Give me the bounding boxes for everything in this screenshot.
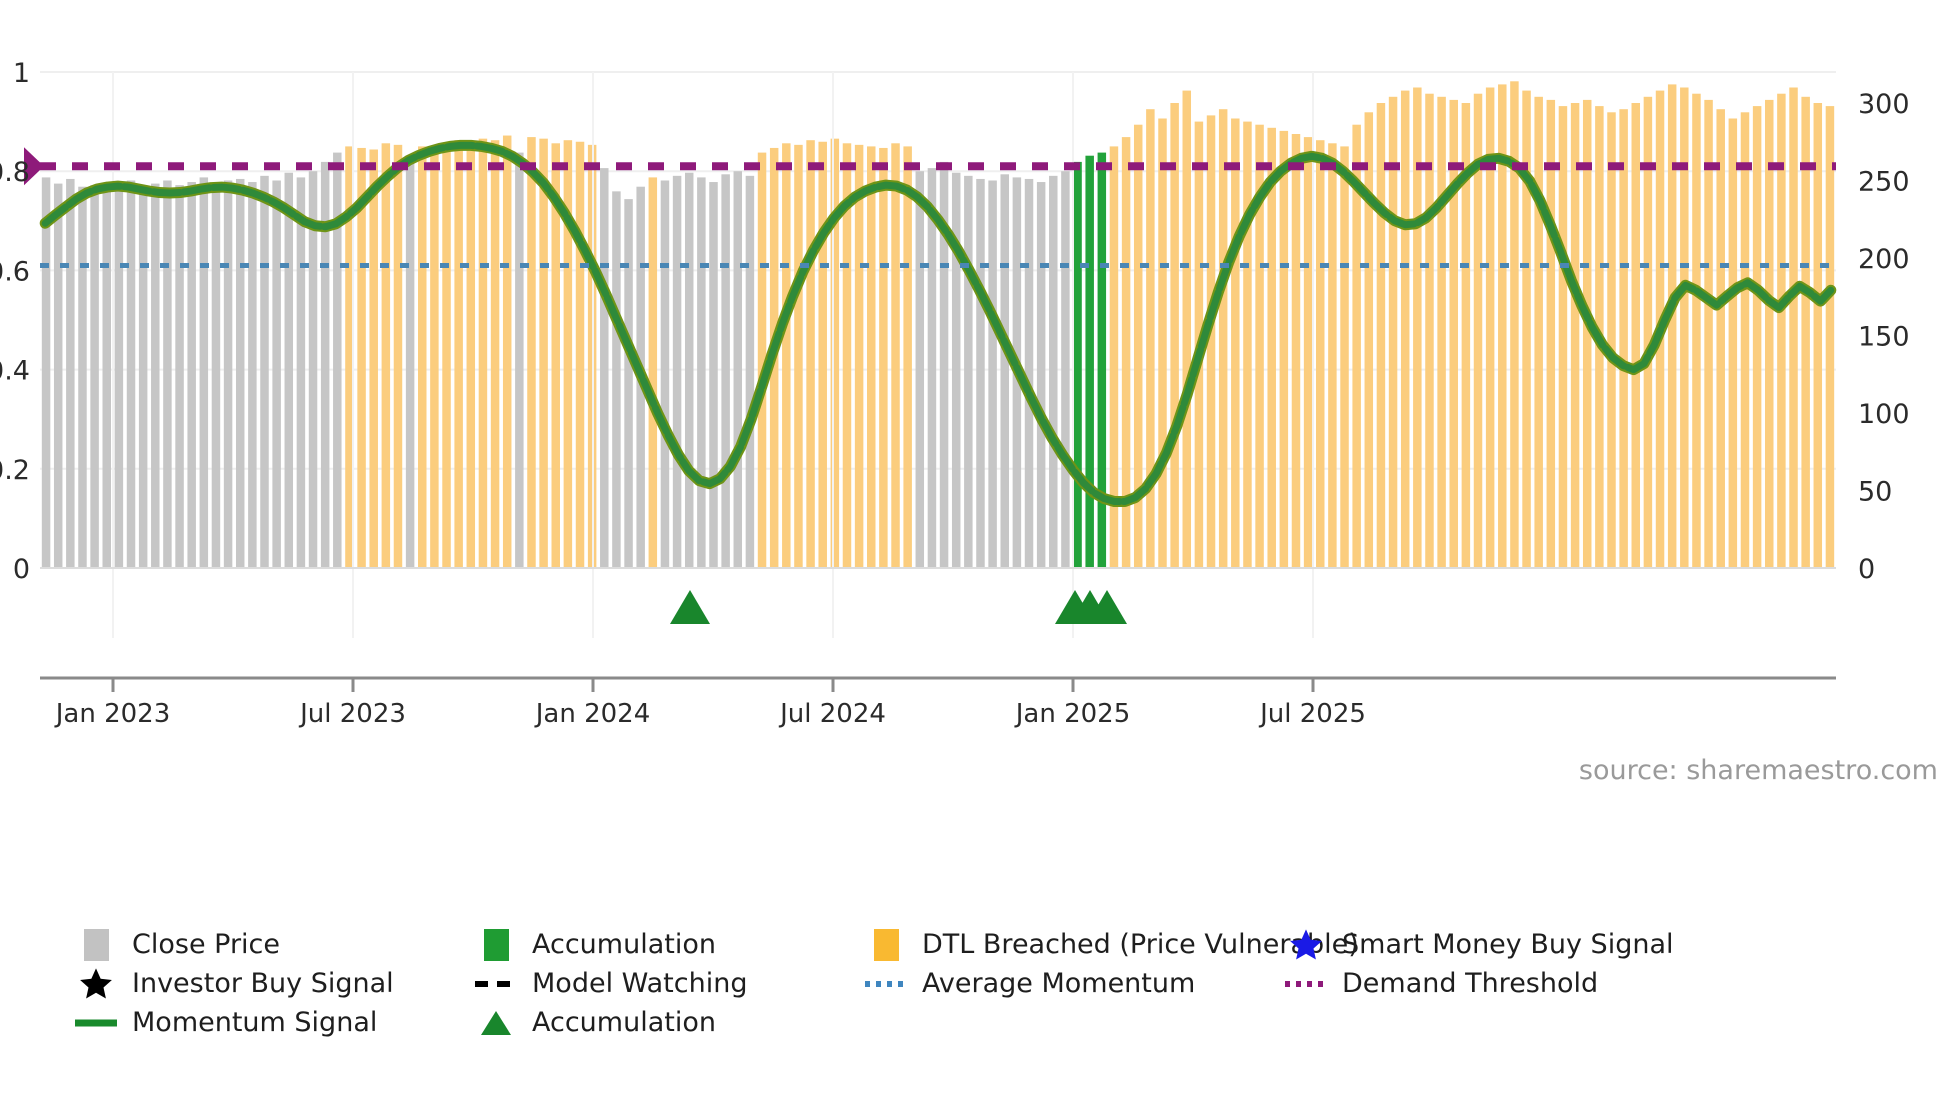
bar-dtl[interactable] — [1692, 94, 1700, 568]
bar-dtl[interactable] — [1377, 103, 1385, 568]
bar-dtl[interactable] — [1183, 91, 1191, 568]
dashed-line-icon — [474, 977, 518, 991]
y-axis-right-label: 200 — [1858, 244, 1910, 275]
bar-close[interactable] — [260, 176, 268, 568]
bar-dtl[interactable] — [394, 145, 402, 568]
bar-dtl[interactable] — [369, 150, 377, 569]
bar-close[interactable] — [709, 182, 717, 568]
bar-dtl[interactable] — [1753, 106, 1761, 568]
bar-dtl[interactable] — [1668, 84, 1676, 568]
bar-close[interactable] — [54, 184, 62, 568]
bar-dtl[interactable] — [1729, 119, 1737, 569]
bar-dtl[interactable] — [1304, 137, 1312, 568]
bar-dtl[interactable] — [649, 177, 657, 568]
y-axis-left-label: 0.6 — [0, 256, 30, 287]
y-axis-right-label: 250 — [1858, 167, 1910, 198]
bar-close[interactable] — [916, 171, 924, 568]
bar-close[interactable] — [248, 182, 256, 568]
bar-dtl[interactable] — [1219, 109, 1227, 568]
y-axis-left-label: 0.4 — [0, 356, 30, 387]
legend-dtl-breached[interactable]: DTL Breached (Price Vulnerable) — [864, 925, 1284, 964]
bar-dtl[interactable] — [1680, 88, 1688, 569]
bar-dtl[interactable] — [1328, 143, 1336, 568]
bar-dtl[interactable] — [1826, 106, 1834, 568]
bar-close[interactable] — [66, 179, 74, 568]
accumulation-triangle-marker[interactable] — [670, 590, 710, 624]
legend-item-label: Model Watching — [532, 968, 747, 999]
y-axis-right-label: 300 — [1858, 89, 1910, 120]
legend-accumulation-marker[interactable]: Accumulation — [474, 1003, 864, 1042]
bar-close[interactable] — [115, 182, 123, 568]
chart-legend: Close PriceAccumulationDTL Breached (Pri… — [74, 925, 1944, 1042]
bar-dtl[interactable] — [855, 145, 863, 568]
dotted-line-icon — [1284, 977, 1328, 991]
bar-dtl[interactable] — [1619, 109, 1627, 568]
bar-dtl[interactable] — [1632, 103, 1640, 568]
bar-close[interactable] — [964, 176, 972, 568]
bar-dtl[interactable] — [1559, 106, 1567, 568]
bar-close[interactable] — [236, 179, 244, 568]
legend-item-label: Smart Money Buy Signal — [1342, 929, 1674, 960]
bar-close[interactable] — [721, 174, 729, 568]
y-axis-right-label: 0 — [1858, 554, 1875, 585]
bar-close[interactable] — [600, 168, 608, 568]
bar-dtl[interactable] — [1437, 97, 1445, 568]
bar-dtl[interactable] — [1510, 81, 1518, 568]
accumulation-markers — [670, 590, 1127, 624]
legend-demand-threshold[interactable]: Demand Threshold — [1284, 964, 1684, 1003]
bar-accum[interactable] — [1085, 156, 1093, 568]
bar-series — [42, 81, 1834, 568]
bar-dtl[interactable] — [1158, 119, 1166, 569]
bar-close[interactable] — [1025, 179, 1033, 568]
bar-dtl[interactable] — [454, 140, 462, 568]
square-icon — [84, 929, 109, 961]
bar-close[interactable] — [285, 173, 293, 568]
bar-dtl[interactable] — [1340, 146, 1348, 568]
bar-dtl[interactable] — [1146, 109, 1154, 568]
bar-close[interactable] — [297, 177, 305, 568]
bar-dtl[interactable] — [1280, 131, 1288, 568]
bar-dtl[interactable] — [503, 136, 511, 568]
bar-dtl[interactable] — [1267, 128, 1275, 568]
legend-item-label: Close Price — [132, 929, 280, 960]
bar-dtl[interactable] — [879, 148, 887, 568]
bar-dtl[interactable] — [1522, 91, 1530, 568]
bar-dtl[interactable] — [1716, 109, 1724, 568]
bar-dtl[interactable] — [1534, 97, 1542, 568]
square-icon — [484, 929, 509, 961]
bar-close[interactable] — [224, 181, 232, 569]
bar-dtl[interactable] — [903, 146, 911, 568]
legend-item-label: Momentum Signal — [132, 1007, 377, 1038]
bar-dtl[interactable] — [1413, 88, 1421, 569]
chart-container: Jan 2023Jul 2023Jan 2024Jul 2024Jan 2025… — [0, 0, 1960, 1102]
x-tick-label: Jul 2023 — [298, 699, 406, 729]
bar-close[interactable] — [139, 188, 147, 568]
bar-dtl[interactable] — [442, 143, 450, 568]
square-icon — [874, 929, 899, 961]
bar-dtl[interactable] — [491, 140, 499, 568]
bar-close[interactable] — [928, 168, 936, 568]
legend-item-label: Demand Threshold — [1342, 968, 1598, 999]
bar-close[interactable] — [187, 182, 195, 568]
legend-item-label: Accumulation — [532, 1007, 716, 1038]
bar-dtl[interactable] — [1789, 88, 1797, 569]
bar-close[interactable] — [151, 184, 159, 568]
bar-close[interactable] — [734, 171, 742, 568]
bar-dtl[interactable] — [818, 142, 826, 568]
bar-dtl[interactable] — [1365, 112, 1373, 568]
bar-close[interactable] — [746, 176, 754, 568]
bar-dtl[interactable] — [479, 139, 487, 568]
bar-close[interactable] — [1061, 171, 1069, 568]
bar-close[interactable] — [952, 173, 960, 568]
bar-dtl[interactable] — [430, 148, 438, 568]
y-axis-left-label: 0.2 — [0, 455, 30, 486]
bar-close[interactable] — [103, 187, 111, 568]
bar-dtl[interactable] — [1243, 122, 1251, 568]
bar-close[interactable] — [127, 181, 135, 569]
bar-dtl[interactable] — [1607, 112, 1615, 568]
x-tick-label: Jan 2025 — [1014, 699, 1131, 729]
legend-item-label: Investor Buy Signal — [132, 968, 394, 999]
bar-close[interactable] — [200, 177, 208, 568]
bar-dtl[interactable] — [1170, 103, 1178, 568]
bar-close[interactable] — [78, 187, 86, 568]
y-axis-left-label: 0 — [13, 554, 30, 585]
y-axis-right-label: 50 — [1858, 477, 1892, 508]
legend-item-label: Accumulation — [532, 929, 716, 960]
bar-close[interactable] — [1049, 176, 1057, 568]
bar-dtl[interactable] — [467, 142, 475, 568]
dotted-line-icon — [864, 977, 908, 991]
bar-dtl[interactable] — [1292, 134, 1300, 568]
bar-close[interactable] — [175, 185, 183, 568]
bar-dtl[interactable] — [806, 140, 814, 568]
star-icon — [74, 966, 118, 1002]
bar-dtl[interactable] — [867, 146, 875, 568]
bar-dtl[interactable] — [1401, 91, 1409, 568]
legend-investor-buy[interactable]: Investor Buy Signal — [74, 964, 474, 1003]
bar-dtl[interactable] — [527, 137, 535, 568]
bar-dtl[interactable] — [382, 143, 390, 568]
x-tick-label: Jan 2023 — [54, 699, 171, 729]
bar-close[interactable] — [988, 181, 996, 569]
bar-dtl[interactable] — [576, 142, 584, 568]
bar-close[interactable] — [90, 185, 98, 568]
legend-key-square — [74, 929, 118, 961]
y-axis-right-label: 100 — [1858, 399, 1910, 430]
solid-line-icon — [74, 1016, 118, 1030]
y-axis-left-label: 0.8 — [0, 157, 30, 188]
bar-close[interactable] — [1037, 182, 1045, 568]
y-axis-left-label: 1 — [13, 58, 30, 89]
bar-accum[interactable] — [1073, 162, 1081, 568]
legend-accumulation-bar[interactable]: Accumulation — [474, 925, 864, 964]
bar-dtl[interactable] — [891, 143, 899, 568]
legend-model-watching[interactable]: Model Watching — [474, 964, 864, 1003]
bar-dtl[interactable] — [831, 139, 839, 568]
legend-smart-money-buy[interactable]: Smart Money Buy Signal — [1284, 925, 1684, 964]
bar-accum[interactable] — [1098, 153, 1106, 568]
bar-close[interactable] — [515, 153, 523, 568]
bar-close[interactable] — [697, 177, 705, 568]
bar-close[interactable] — [163, 181, 171, 569]
legend-close-price[interactable]: Close Price — [74, 925, 474, 964]
bar-dtl[interactable] — [1741, 112, 1749, 568]
source-attribution: source: sharemaestro.com — [1579, 755, 1938, 786]
bar-close[interactable] — [624, 199, 632, 568]
legend-momentum-signal[interactable]: Momentum Signal — [74, 1003, 474, 1042]
bar-close[interactable] — [685, 173, 693, 568]
bar-dtl[interactable] — [1571, 103, 1579, 568]
triangle-icon — [474, 1008, 518, 1038]
legend-key-square — [474, 929, 518, 961]
legend-average-momentum[interactable]: Average Momentum — [864, 964, 1284, 1003]
bar-dtl[interactable] — [794, 145, 802, 568]
bar-close[interactable] — [406, 160, 414, 568]
bar-close[interactable] — [661, 181, 669, 569]
bar-dtl[interactable] — [1316, 140, 1324, 568]
star-icon — [1284, 927, 1328, 963]
bar-dtl[interactable] — [1231, 119, 1239, 569]
bar-dtl[interactable] — [1814, 103, 1822, 568]
bar-dtl[interactable] — [782, 143, 790, 568]
bar-close[interactable] — [612, 191, 620, 568]
x-tick-label: Jul 2025 — [1258, 699, 1366, 729]
legend-item-label: Average Momentum — [922, 968, 1195, 999]
bar-close[interactable] — [976, 179, 984, 568]
bar-close[interactable] — [212, 184, 220, 568]
bar-close[interactable] — [1001, 174, 1009, 568]
x-tick-label: Jan 2024 — [534, 699, 651, 729]
bar-close[interactable] — [42, 177, 50, 568]
y-axis-right-label: 150 — [1858, 322, 1910, 353]
x-tick-label: Jul 2024 — [778, 699, 886, 729]
bar-close[interactable] — [272, 181, 280, 569]
legend-key-square — [864, 929, 908, 961]
bar-close[interactable] — [673, 176, 681, 568]
bar-dtl[interactable] — [539, 139, 547, 568]
bar-dtl[interactable] — [418, 146, 426, 568]
